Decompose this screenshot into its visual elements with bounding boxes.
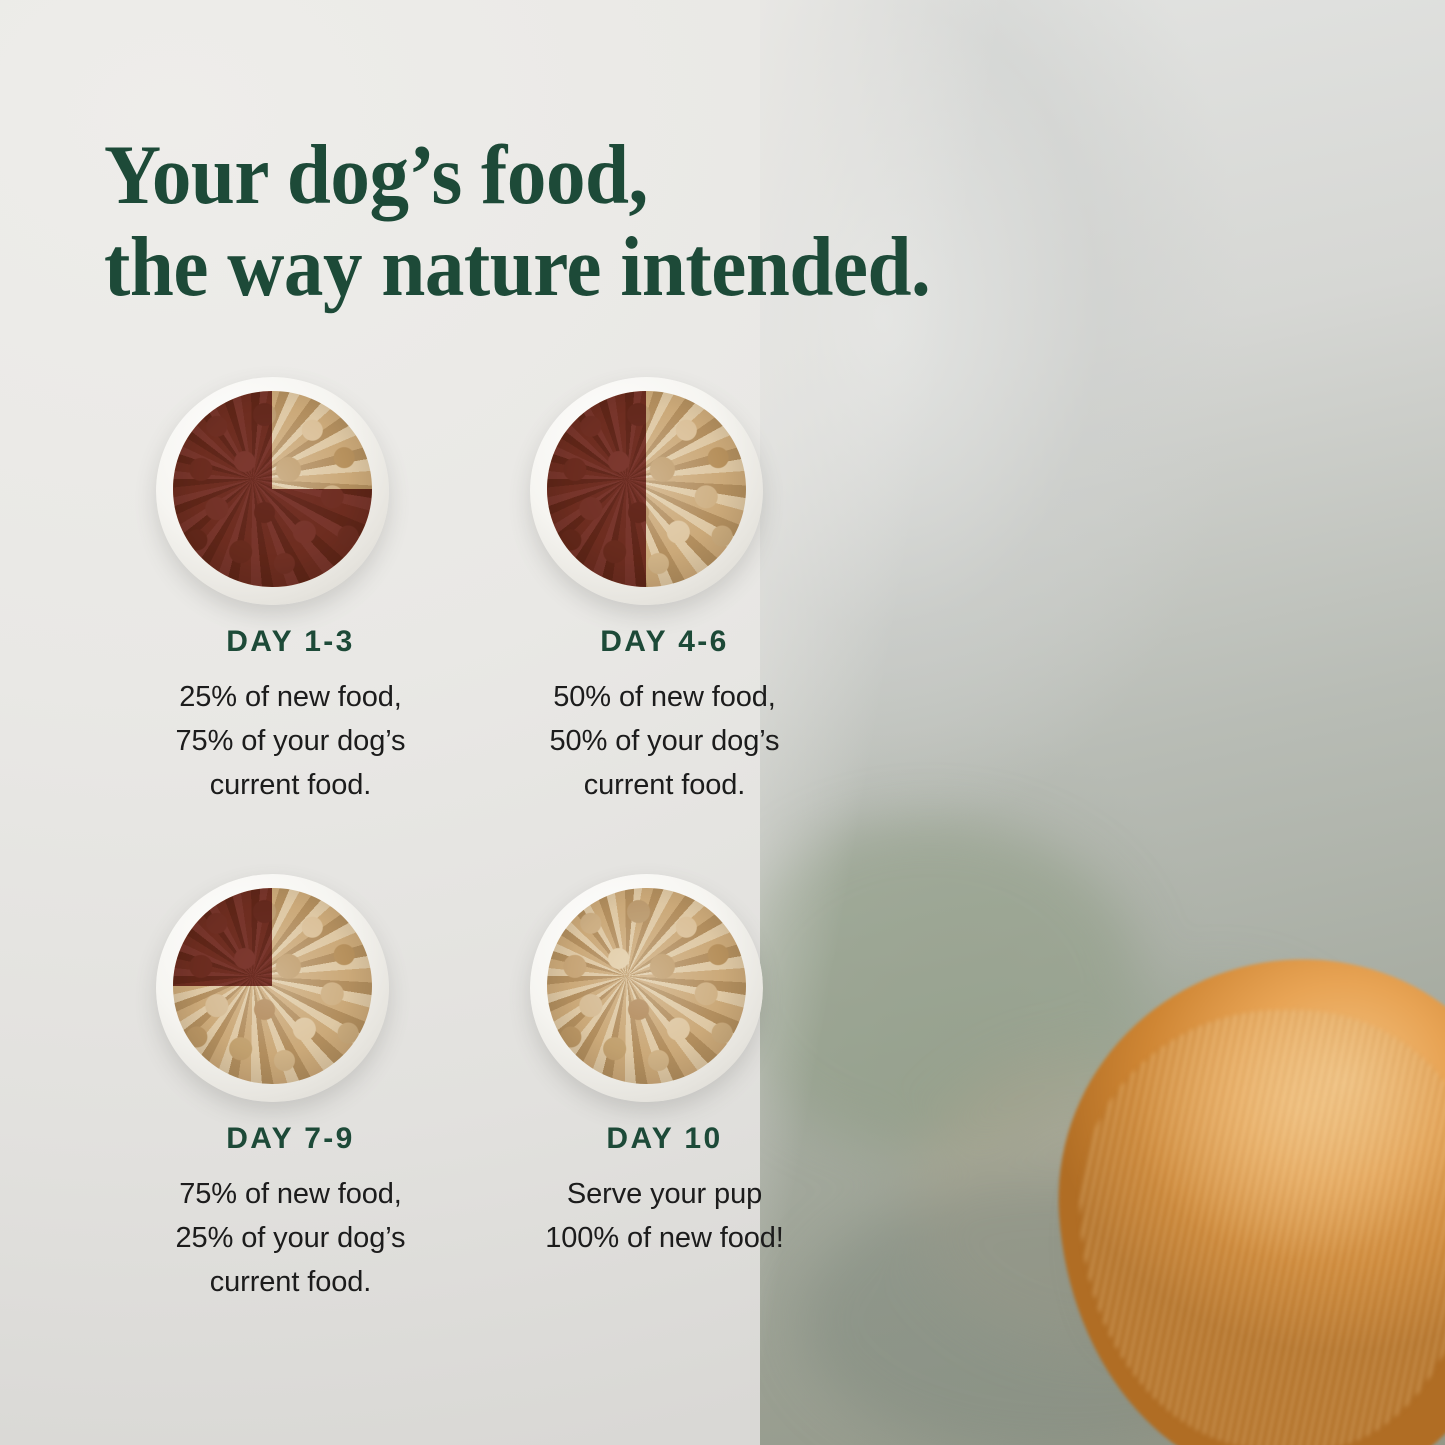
- desc-line: 50% of your dog’s: [482, 719, 847, 763]
- day-label: DAY 10: [482, 1122, 847, 1156]
- bowl-wrapper: [482, 872, 847, 1104]
- kibble-fill: [173, 391, 371, 587]
- bowl-day-7-9: [156, 874, 389, 1102]
- desc-line: current food.: [108, 1260, 473, 1304]
- overlay-quadrant-top-left: [173, 888, 272, 986]
- step-card-day-4-6: DAY 4-6 50% of new food, 50% of your dog…: [482, 375, 847, 807]
- desc-line: current food.: [482, 763, 847, 807]
- step-description: 25% of new food, 75% of your dog’s curre…: [108, 675, 473, 807]
- kibble-fill: [547, 888, 745, 1084]
- bowl-wrapper: [482, 375, 847, 607]
- feeding-transition-infographic: Your dog’s food, the way nature intended…: [0, 0, 1445, 1445]
- bowl-day-4-6: [530, 377, 763, 605]
- desc-line: 50% of new food,: [482, 675, 847, 719]
- old-food-overlay: [547, 888, 745, 1084]
- kibble-fill: [547, 391, 745, 587]
- day-label: DAY 1-3: [108, 625, 473, 659]
- day-label: DAY 4-6: [482, 625, 847, 659]
- overlay-quadrant-bottom-left: [547, 489, 646, 587]
- desc-line: 75% of your dog’s: [108, 719, 473, 763]
- step-card-day-10: DAY 10 Serve your pup 100% of new food!: [482, 872, 847, 1260]
- desc-line: current food.: [108, 763, 473, 807]
- overlay-quadrant-top-left: [173, 391, 272, 489]
- bowl-wrapper: [108, 872, 473, 1104]
- overlay-quadrant-bottom-right: [272, 489, 371, 587]
- step-card-day-1-3: DAY 1-3 25% of new food, 75% of your dog…: [108, 375, 473, 807]
- day-label: DAY 7-9: [108, 1122, 473, 1156]
- overlay-quadrant-bottom-left: [173, 489, 272, 587]
- desc-line: 25% of new food,: [108, 675, 473, 719]
- old-food-overlay: [173, 391, 371, 587]
- desc-line: 75% of new food,: [108, 1172, 473, 1216]
- step-description: Serve your pup 100% of new food!: [482, 1172, 847, 1260]
- step-description: 50% of new food, 50% of your dog’s curre…: [482, 675, 847, 807]
- desc-line: 100% of new food!: [482, 1216, 847, 1260]
- bowl-wrapper: [108, 375, 473, 607]
- dog-chest: [1042, 944, 1445, 1445]
- step-description: 75% of new food, 25% of your dog’s curre…: [108, 1172, 473, 1304]
- kibble-fill: [173, 888, 371, 1084]
- dog-neck-shadow: [1050, 1070, 1200, 1410]
- step-card-day-7-9: DAY 7-9 75% of new food, 25% of your dog…: [108, 872, 473, 1304]
- dog-chest-fur: [1080, 1010, 1445, 1445]
- overlay-quadrant-top-left: [547, 391, 646, 489]
- desc-line: Serve your pup: [482, 1172, 847, 1216]
- transition-schedule: DAY 1-3 25% of new food, 75% of your dog…: [0, 0, 830, 1445]
- desc-line: 25% of your dog’s: [108, 1216, 473, 1260]
- bowl-day-10: [530, 874, 763, 1102]
- bowl-day-1-3: [156, 377, 389, 605]
- old-food-overlay: [173, 888, 371, 1084]
- old-food-overlay: [547, 391, 745, 587]
